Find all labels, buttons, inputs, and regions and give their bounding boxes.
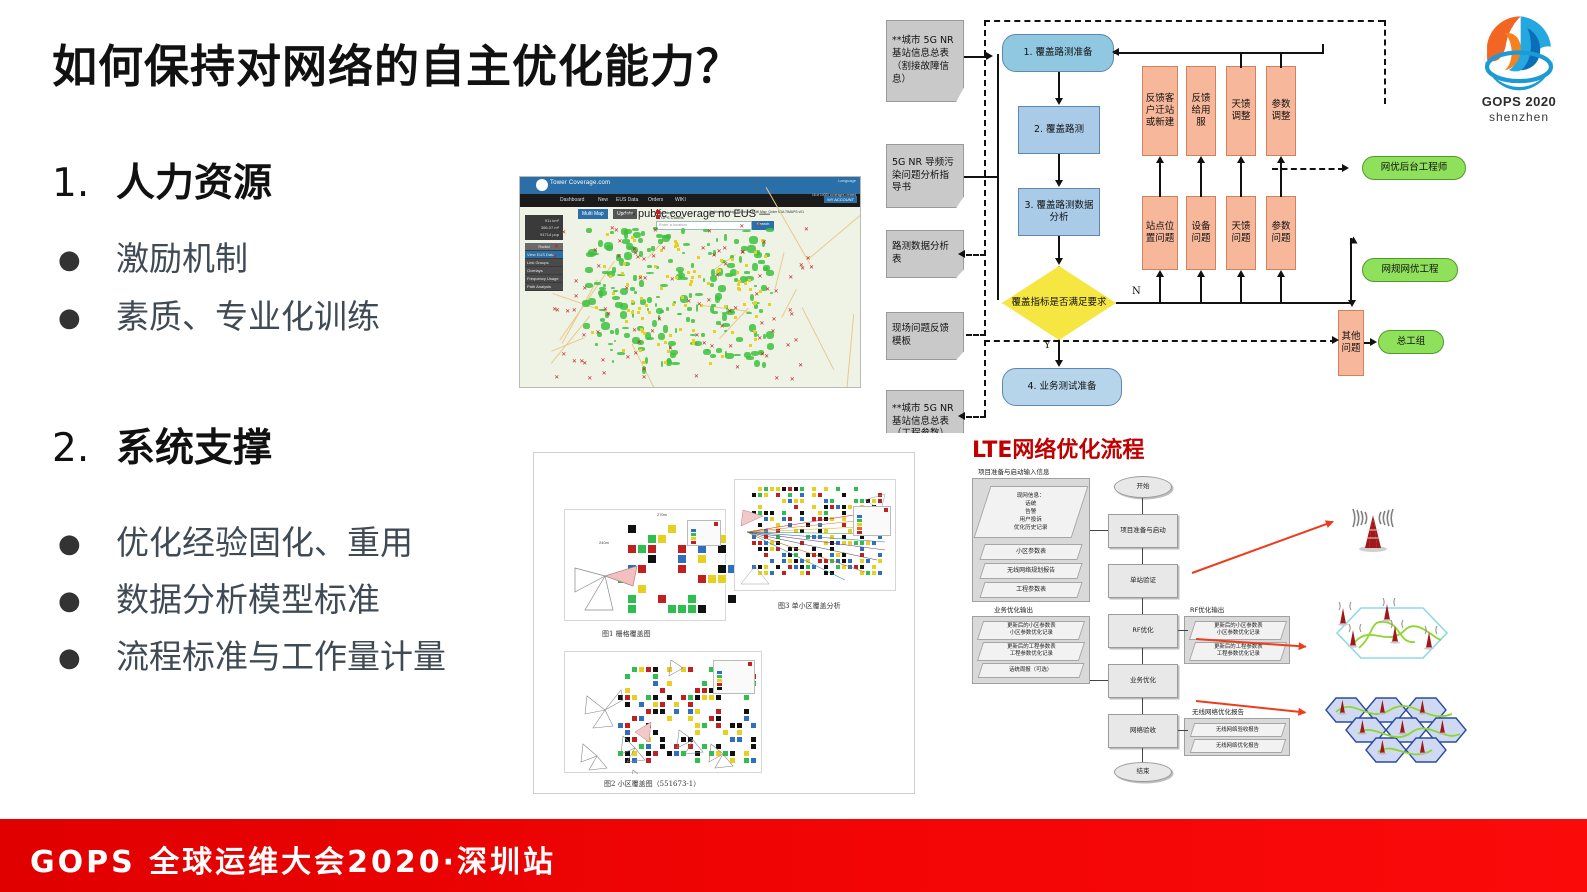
arrow-doc1: [986, 52, 993, 60]
slide-root: 如何保持对网络的自主优化能力？ 1.人力资源 ●激励机制 ●素质、专业化训练 2…: [0, 0, 1587, 892]
doc-pilot-pollution-guide: 5G NR 导频污染问题分析指导书: [886, 144, 964, 208]
grid-coverage-chart: 270m 240m: [564, 509, 726, 621]
annotation-240m: 240m: [599, 540, 609, 545]
arrow-1to2: [1055, 98, 1063, 105]
lte-optimization-flowchart: 项目准备与启动输入信息 现网信息：话统告警用户投诉优化历史记录 小区参数表 无线…: [962, 466, 1292, 786]
map-brand-label: Tower Coverage.com: [550, 180, 610, 186]
cell-coverage-chart: [564, 651, 762, 773]
section-2-label: 系统支撑: [116, 426, 272, 471]
branch-no-line: [1116, 302, 1352, 304]
section-1-label: 人力资源: [116, 161, 272, 206]
lte-step-project-prep: 项目准备与启动: [1108, 514, 1178, 548]
connector-doc2: [964, 176, 998, 178]
lte-step-network-acceptance: 网络验收: [1108, 714, 1178, 748]
bullet-text: 激励机制: [116, 239, 248, 278]
nav-orders[interactable]: Orders: [648, 197, 663, 203]
role-chief-engineer-group: 总工组: [1378, 330, 1444, 354]
issue-antenna: 天馈问题: [1226, 196, 1256, 270]
list-item: ●数据分析模型标准: [58, 573, 380, 621]
nav-wiki[interactable]: WIKI: [675, 197, 686, 203]
map-nav-bar[interactable]: Dashboard New EUS Data Orders WIKI MY AC…: [520, 194, 860, 207]
input-item-engineering-param-table: 工程参数表: [979, 582, 1082, 598]
single-tower-illustration: [1335, 508, 1411, 557]
figure-3-caption: 图3 单小区覆盖分析: [778, 601, 841, 611]
rf-output-item-1: 更新后的小区参数表小区参数优化记录: [1189, 621, 1287, 640]
lte-section-title: LTE网络优化流程: [972, 432, 1144, 464]
dashed-branch-doc3: [966, 254, 986, 256]
hex-cell-cluster-illustration: [1315, 598, 1465, 673]
action-antenna-adjust: 天馈调整: [1226, 66, 1256, 156]
bullet-text: 数据分析模型标准: [116, 580, 380, 619]
section-2-index: 2.: [52, 426, 116, 471]
acceptance-output-item-1: 无线网络验收报告: [1190, 723, 1287, 737]
doc-scan-inner: 270m 240m 图1 栅格覆盖图: [542, 461, 906, 785]
action-feedback-customer-relocate: 反馈客户迁站或新建: [1142, 66, 1178, 156]
arrow-2to3: [1055, 180, 1063, 187]
dashed-loop-left: [984, 20, 986, 416]
single-cell-coverage-chart: [734, 479, 896, 591]
my-account-button[interactable]: MY ACCOUNT: [824, 196, 857, 203]
action-feedback-to-service: 反馈给用服: [1186, 66, 1216, 156]
role-network-planning-engineering: 网规网优工程: [1362, 258, 1458, 282]
map-language-label[interactable]: Language: [838, 178, 856, 183]
section-1-index: 1.: [52, 161, 116, 206]
multi-cell-network-illustration: [1308, 690, 1478, 777]
doc-5g-base-station-engineering: **城市 5G NR 基站信息总表（工程参数）: [886, 390, 964, 433]
chart-legend: [713, 660, 755, 694]
bullet-text: 流程标准与工作量计量: [116, 637, 446, 676]
lte-step-single-site-verify: 单站验证: [1108, 564, 1178, 598]
process-4-service-test-prep: 4. 业务测试准备: [1002, 368, 1122, 406]
process-2-drive-test: 2. 覆盖路测: [1018, 106, 1100, 154]
footer-text: GOPS 全球运维大会2020·深圳站: [30, 837, 556, 881]
nav-dashboard[interactable]: Dashboard: [560, 197, 584, 203]
list-item: ●优化经验固化、重用: [58, 516, 413, 564]
figure-1-caption: 图1 栅格覆盖图: [602, 629, 651, 639]
input-group-label: 项目准备与启动输入信息: [978, 466, 1050, 476]
lte-step-rf-optimization: RF优化: [1108, 614, 1178, 648]
arrow-decision-to-4: [1055, 360, 1063, 367]
acceptance-output-item-2: 无线网络优化报告: [1190, 739, 1287, 753]
globe-icon: [536, 179, 548, 191]
bullet-dot-icon: ●: [58, 529, 116, 559]
decision-no-label: N: [1132, 286, 1141, 297]
map-header-bar: Tower Coverage.com Language: [520, 177, 860, 194]
dashed-to-other: [984, 340, 1336, 342]
connector-doc1: [964, 56, 986, 58]
issue-site-location: 站点位置问题: [1142, 196, 1178, 270]
bullet-text: 优化经验固化、重用: [116, 523, 413, 562]
bullet-text: 素质、专业化训练: [116, 297, 380, 336]
lte-step-service-optimization: 业务优化: [1108, 664, 1178, 698]
bullet-dot-icon: ●: [58, 643, 116, 673]
footer-bar: GOPS 全球运维大会2020·深圳站: [0, 819, 1587, 892]
chart-legend: [687, 520, 721, 546]
coverage-analysis-document-scan: 270m 240m 图1 栅格覆盖图: [533, 452, 915, 794]
doc-onsite-issue-template: 现场问题反馈模板: [886, 312, 964, 360]
arrow-no-branch: [1350, 237, 1358, 244]
dashed-loop-top: [984, 20, 1384, 22]
lte-step-end: 结束: [1114, 762, 1172, 782]
doc-5g-base-station-cutover: **城市 5G NR 基站信息总表（割接故障信息）: [886, 20, 964, 102]
arrow-doc3: [958, 250, 965, 258]
role-network-optimization-engineer: 网优后台工程师: [1362, 156, 1466, 180]
process-1-drive-test-prep: 1. 覆盖路测准备: [1002, 34, 1114, 72]
decision-coverage-kpi: 覆盖指标是否满足要求: [1002, 266, 1116, 340]
arrow-doc5: [958, 412, 965, 420]
map-coverage-markers: ✕✕✕✕✕✕✕✕✕✕✕✕✕✕✕✕✕✕✕✕✕✕✕✕✕✕✕✕✕✕✕✕✕✕✕✕✕✕✕✕…: [520, 207, 860, 388]
ray-lines: [735, 480, 897, 592]
list-item: ●素质、专业化训练: [58, 290, 380, 338]
5g-coverage-drive-test-flowchart: **城市 5G NR 基站信息总表（割接故障信息） 5G NR 导频污染问题分析…: [880, 8, 1580, 433]
bullet-dot-icon: ●: [58, 586, 116, 616]
page-title: 如何保持对网络的自主优化能力？: [52, 30, 742, 95]
action-parameter-adjust: 参数调整: [1266, 66, 1296, 156]
list-item: ●流程标准与工作量计量: [58, 630, 446, 678]
connector-doc2-vert: [997, 54, 999, 300]
bullet-dot-icon: ●: [58, 303, 116, 333]
list-item: ●激励机制: [58, 232, 248, 280]
issue-other: 其他问题: [1338, 310, 1364, 376]
nav-new[interactable]: New: [598, 197, 608, 203]
annotation-270m: 270m: [657, 512, 667, 517]
section-1-heading: 1.人力资源: [52, 152, 272, 208]
figure-2-caption: 图2 小区覆盖图（551673-1）: [604, 779, 700, 789]
dashed-branch-doc4: [966, 334, 986, 336]
service-output-label: 业务优化输出: [994, 604, 1033, 614]
input-item-radio-planning-report: 无线网络规划报告: [979, 563, 1082, 579]
input-item-cell-param-table: 小区参数表: [979, 544, 1082, 560]
arrow-3todecision: [1055, 258, 1063, 265]
input-item-network-info: 现网信息：话统告警用户投诉优化历史记录: [974, 486, 1089, 538]
process-3-data-analysis: 3. 覆盖路测数据分析: [1018, 188, 1100, 236]
lte-step-start: 开始: [1114, 476, 1172, 498]
section-2-heading: 2.系统支撑: [52, 417, 272, 473]
acceptance-output-label: 无线网络优化报告: [1192, 706, 1244, 716]
arrow-to-other-issue: [1348, 300, 1356, 307]
service-output-item-1: 更新后的小区参数表小区参数优化记录: [977, 621, 1085, 640]
map-status-label: 16 of 10000 coverages created: [812, 193, 856, 197]
nav-eus-data[interactable]: EUS Data: [616, 197, 638, 203]
service-output-item-2: 更新后的工程参数表工程参数优化记录: [977, 642, 1085, 661]
issue-parameter: 参数问题: [1266, 196, 1296, 270]
return-line: [1114, 52, 1324, 54]
dashed-loop-right: [1384, 20, 1386, 104]
tower-coverage-map-screenshot[interactable]: Tower Coverage.com Language Dashboard Ne…: [519, 176, 861, 388]
chart-legend: [853, 506, 891, 536]
issue-equipment: 设备问题: [1186, 196, 1216, 270]
doc-drive-test-analysis-table: 路测数据分析表: [886, 230, 964, 278]
dashed-branch-doc5: [966, 416, 986, 418]
bullet-dot-icon: ●: [58, 245, 116, 275]
rf-output-label: RF优化输出: [1190, 604, 1224, 614]
service-output-item-3: 话统周报（可选）: [978, 663, 1085, 678]
dashed-to-engineer: [1272, 168, 1344, 170]
arrow-return-to-1: [1112, 48, 1119, 56]
